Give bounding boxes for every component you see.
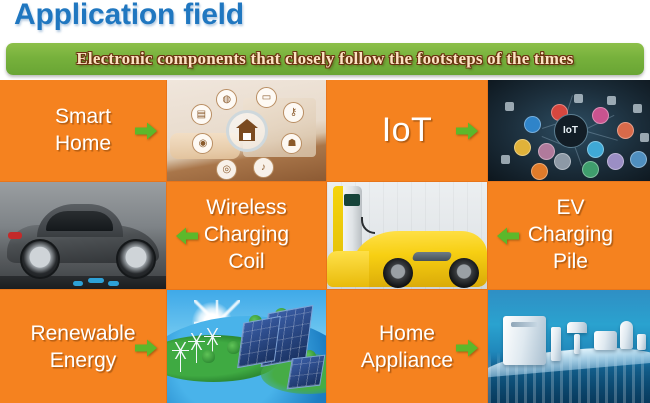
network-node-purple xyxy=(607,153,624,170)
network-node-grey xyxy=(554,153,571,170)
cell-iot-network-image: IoT xyxy=(488,80,650,181)
car-taillight xyxy=(8,232,22,239)
yellow-car-wheel xyxy=(449,258,479,288)
car-wheel xyxy=(116,239,156,279)
appliance-range-hood xyxy=(567,322,587,332)
charging-pile-display xyxy=(344,194,360,206)
device-icon-camera: ◎ xyxy=(216,159,237,180)
application-field-slide: Application field Electronic components … xyxy=(0,0,650,403)
grey-sports-car xyxy=(0,182,166,289)
label-line: Coil xyxy=(204,249,289,276)
home-appliances-city xyxy=(488,290,650,403)
solar-panels-earth xyxy=(167,290,326,403)
network-node-orange xyxy=(617,122,634,139)
arrow-right-icon xyxy=(135,122,157,139)
appliance-microwave xyxy=(594,331,617,349)
network-node-cyan xyxy=(587,141,604,158)
iot-network-diagram: IoT xyxy=(488,80,650,181)
label-home-appliance: Home Appliance xyxy=(355,321,459,375)
network-node-violet xyxy=(538,143,555,160)
cell-smart-home-image: ◍ ▭ ⚷ ☗ ♪ ◎ ◉ ▤ xyxy=(167,80,326,181)
device-icon-fan: ◍ xyxy=(216,89,237,110)
solar-panel xyxy=(237,316,281,368)
wind-turbine xyxy=(180,350,182,372)
label-line: Energy xyxy=(30,348,135,375)
device-icon-family: ☗ xyxy=(281,133,302,154)
appliance-column xyxy=(574,334,581,355)
smart-home-hub-icon xyxy=(226,110,268,152)
cell-wireless-charging-car-image xyxy=(0,182,166,289)
arrow-right-icon xyxy=(456,122,478,139)
appliance-water-dispenser xyxy=(551,327,561,362)
device-glyph xyxy=(574,94,583,103)
cell-smart-home[interactable]: Smart Home xyxy=(0,80,166,181)
appliance-handle xyxy=(511,322,538,327)
label-renewable-energy: Renewable Energy xyxy=(24,321,141,375)
cell-wireless-charging-coil[interactable]: Wireless Charging Coil xyxy=(167,182,326,289)
application-grid: Smart Home ◍ ▭ ⚷ ☗ ♪ ◎ ◉ ▤ xyxy=(0,80,650,403)
device-glyph xyxy=(501,155,510,164)
network-link xyxy=(587,131,618,141)
car-wheel xyxy=(20,239,60,279)
device-icon-cooking: ◉ xyxy=(192,133,213,154)
arrow-left-icon xyxy=(497,227,519,244)
cell-iot[interactable]: IoT xyxy=(327,80,487,181)
solar-panel xyxy=(286,354,325,389)
label-smart-home: Smart Home xyxy=(49,104,117,158)
wind-turbine xyxy=(196,341,198,363)
smart-home-illustration: ◍ ▭ ⚷ ☗ ♪ ◎ ◉ ▤ xyxy=(167,80,326,181)
label-line: Pile xyxy=(528,249,613,276)
device-glyph xyxy=(640,133,649,142)
label-line: Smart xyxy=(55,104,111,131)
page-title: Application field xyxy=(14,0,244,32)
subtitle-banner: Electronic components that closely follo… xyxy=(6,43,644,75)
device-glyph xyxy=(505,102,514,111)
network-node-pink xyxy=(592,107,609,124)
cell-ev-charging-pile[interactable]: EV Charging Pile xyxy=(488,182,650,289)
label-line: Charging xyxy=(204,222,289,249)
device-icon-music: ♪ xyxy=(253,157,274,178)
label-line: Home xyxy=(361,321,453,348)
subtitle-banner-text: Electronic components that closely follo… xyxy=(76,49,573,69)
arrow-left-icon xyxy=(176,227,198,244)
network-node-green xyxy=(582,161,599,178)
cell-renewable-energy[interactable]: Renewable Energy xyxy=(0,290,166,403)
label-line: Charging xyxy=(528,222,613,249)
appliance-water-heater xyxy=(620,321,633,349)
cell-home-appliance-image xyxy=(488,290,650,403)
charging-wave xyxy=(108,281,119,286)
tree xyxy=(202,350,215,363)
charging-wave xyxy=(73,281,83,286)
appliance-small xyxy=(637,334,647,350)
device-icon-laptop: ▭ xyxy=(256,87,277,108)
arrow-right-icon xyxy=(135,339,157,356)
cell-home-appliance[interactable]: Home Appliance xyxy=(327,290,487,403)
label-wireless-charging-coil: Wireless Charging Coil xyxy=(198,195,295,276)
yellow-car-wheel xyxy=(383,258,413,288)
car-window xyxy=(46,211,112,231)
network-node-yellow xyxy=(514,139,531,156)
charging-wave xyxy=(88,278,104,283)
label-line: Home xyxy=(55,131,111,158)
device-icon-trash: ▤ xyxy=(191,104,212,125)
label-line: Renewable xyxy=(30,321,135,348)
cell-renewable-energy-image xyxy=(167,290,326,403)
label-ev-charging-pile: EV Charging Pile xyxy=(522,195,619,276)
cell-ev-charging-image xyxy=(327,182,487,289)
iot-center-node: IoT xyxy=(554,114,588,148)
label-iot: IoT xyxy=(376,109,439,153)
network-node-amber xyxy=(531,163,548,180)
network-node-steel xyxy=(630,151,647,168)
yellow-car-charging-pile xyxy=(327,182,487,289)
device-glyph xyxy=(633,104,642,113)
yellow-car-nose xyxy=(327,251,369,287)
appliance-refrigerator xyxy=(503,316,546,364)
device-glyph xyxy=(607,96,616,105)
network-node-blue xyxy=(524,116,541,133)
label-line: EV xyxy=(528,195,613,222)
label-line: Wireless xyxy=(204,195,289,222)
label-line: Appliance xyxy=(361,348,453,375)
yellow-car-windshield xyxy=(412,252,452,261)
arrow-right-icon xyxy=(456,339,478,356)
